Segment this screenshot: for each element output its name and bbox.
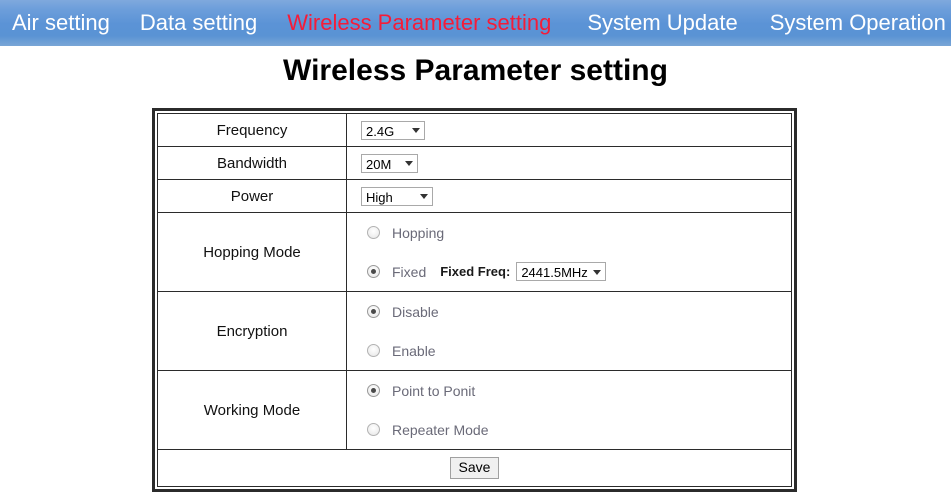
fixed-freq-label: Fixed Freq: [440, 264, 510, 279]
main-navigation-bar: Air setting Data setting Wireless Parame… [0, 0, 951, 46]
table-row-bandwidth: Bandwidth 20M [158, 147, 792, 180]
radio-button-hopping[interactable] [367, 226, 380, 239]
frequency-select[interactable]: 2.4G [361, 121, 425, 140]
chevron-down-icon [420, 194, 428, 199]
radio-label-encryption-disable: Disable [392, 304, 439, 320]
radio-button-repeater-mode[interactable] [367, 423, 380, 436]
radio-option-point-to-point[interactable]: Point to Ponit [361, 371, 791, 410]
table-row-hopping-mode: Hopping Mode Hopping Fixed Fixed Freq: 2… [158, 213, 792, 292]
table-row-working-mode: Working Mode Point to Ponit Repeater Mod… [158, 371, 792, 450]
row-label-encryption: Encryption [158, 292, 347, 371]
chevron-down-icon [412, 128, 420, 133]
radio-label-fixed: Fixed [392, 264, 426, 280]
radio-option-encryption-disable[interactable]: Disable [361, 292, 791, 331]
radio-label-encryption-enable: Enable [392, 343, 436, 359]
nav-item-system-operation[interactable]: System Operation [770, 0, 946, 46]
radio-button-encryption-enable[interactable] [367, 344, 380, 357]
table-row-encryption: Encryption Disable Enable [158, 292, 792, 371]
row-field-power: High [347, 180, 792, 213]
row-label-bandwidth: Bandwidth [158, 147, 347, 180]
radio-button-fixed[interactable] [367, 265, 380, 278]
power-select[interactable]: High [361, 187, 433, 206]
fixed-freq-select[interactable]: 2441.5MHz [516, 262, 606, 281]
nav-item-air-setting[interactable]: Air setting [12, 0, 110, 46]
table-row-save: Save [158, 450, 792, 487]
radio-option-hopping[interactable]: Hopping [361, 213, 791, 252]
bandwidth-select[interactable]: 20M [361, 154, 418, 173]
table-row-frequency: Frequency 2.4G [158, 114, 792, 147]
row-field-encryption: Disable Enable [347, 292, 792, 371]
save-button[interactable]: Save [450, 457, 500, 479]
row-label-frequency: Frequency [158, 114, 347, 147]
wireless-settings-form: Frequency 2.4G Bandwidth 20M [152, 108, 797, 492]
radio-button-encryption-disable[interactable] [367, 305, 380, 318]
row-field-bandwidth: 20M [347, 147, 792, 180]
chevron-down-icon [593, 270, 601, 275]
row-field-working-mode: Point to Ponit Repeater Mode [347, 371, 792, 450]
frequency-select-value: 2.4G [366, 124, 394, 139]
radio-label-point-to-point: Point to Ponit [392, 383, 475, 399]
radio-label-repeater-mode: Repeater Mode [392, 422, 489, 438]
nav-item-system-update[interactable]: System Update [587, 0, 737, 46]
radio-label-hopping: Hopping [392, 225, 444, 241]
bandwidth-select-value: 20M [366, 157, 391, 172]
radio-option-repeater-mode[interactable]: Repeater Mode [361, 410, 791, 449]
radio-option-fixed[interactable]: Fixed Fixed Freq: 2441.5MHz [361, 252, 791, 291]
row-field-hopping-mode: Hopping Fixed Fixed Freq: 2441.5MHz [347, 213, 792, 292]
row-field-frequency: 2.4G [347, 114, 792, 147]
radio-option-encryption-enable[interactable]: Enable [361, 331, 791, 370]
page-title: Wireless Parameter setting [0, 54, 951, 88]
nav-item-wireless-parameter-setting[interactable]: Wireless Parameter setting [287, 0, 551, 46]
chevron-down-icon [405, 161, 413, 166]
radio-button-point-to-point[interactable] [367, 384, 380, 397]
table-row-power: Power High [158, 180, 792, 213]
row-label-power: Power [158, 180, 347, 213]
fixed-freq-select-value: 2441.5MHz [521, 265, 587, 280]
power-select-value: High [366, 190, 393, 205]
row-label-hopping-mode: Hopping Mode [158, 213, 347, 292]
row-label-working-mode: Working Mode [158, 371, 347, 450]
nav-item-data-setting[interactable]: Data setting [140, 0, 257, 46]
save-row-cell: Save [158, 450, 792, 487]
